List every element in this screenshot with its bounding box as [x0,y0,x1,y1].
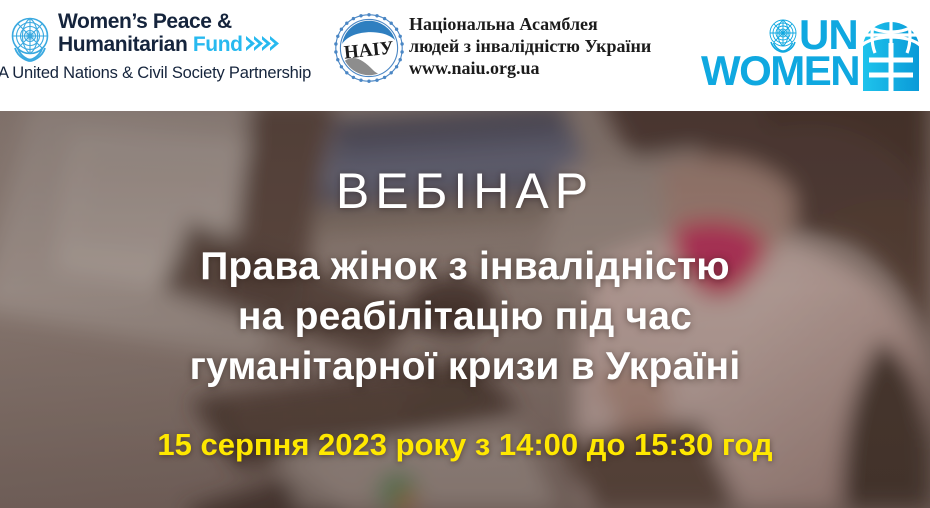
wphf-line2-accent: Fund [193,33,243,56]
wphf-wordmark: Women’s Peace & Humanitarian Fund [58,10,298,57]
webinar-banner: Women’s Peace & Humanitarian Fund A Unit… [0,0,930,508]
wphf-line2: Humanitarian Fund [58,33,298,57]
un-women-logo[interactable]: UN WOMEN [695,6,927,96]
un-women-women-text: WOMEN [701,50,859,92]
naiu-wordmark: Національна Асамблея людей з інвалідніст… [409,13,651,79]
naiu-logo[interactable]: НАІУ Національна Асамблея людей з інвалі… [333,8,673,94]
wphf-tagline: A United Nations & Civil Society Partner… [0,64,311,83]
webinar-title-line-3: гуманітарної кризи в Україні [0,342,930,392]
logo-header: Women’s Peace & Humanitarian Fund A Unit… [0,0,930,111]
naiu-website[interactable]: www.naiu.org.ua [409,57,651,79]
wphf-logo[interactable]: Women’s Peace & Humanitarian Fund A Unit… [0,8,300,96]
webinar-title-line-2: на реабілітацію під час [0,292,930,342]
un-women-symbol-icon [857,13,925,93]
un-emblem-icon [4,12,56,64]
chevron-arrows-icon [246,34,280,57]
webinar-datetime: 15 серпня 2023 року з 14:00 до 15:30 год [0,427,930,463]
naiu-circle-logo-icon: НАІУ [333,12,405,84]
event-type-kicker: ВЕБІНАР [0,163,930,219]
wphf-line2-main: Humanitarian [58,33,187,56]
hero-text-overlay: ВЕБІНАР Права жінок з інвалідністю на ре… [0,110,930,508]
webinar-title-line-1: Права жінок з інвалідністю [0,242,930,292]
webinar-title: Права жінок з інвалідністю на реабілітац… [0,242,930,392]
naiu-line1: Національна Асамблея [409,13,651,35]
wphf-line1: Women’s Peace & [58,10,298,33]
naiu-line2: людей з інвалідністю України [409,35,651,57]
